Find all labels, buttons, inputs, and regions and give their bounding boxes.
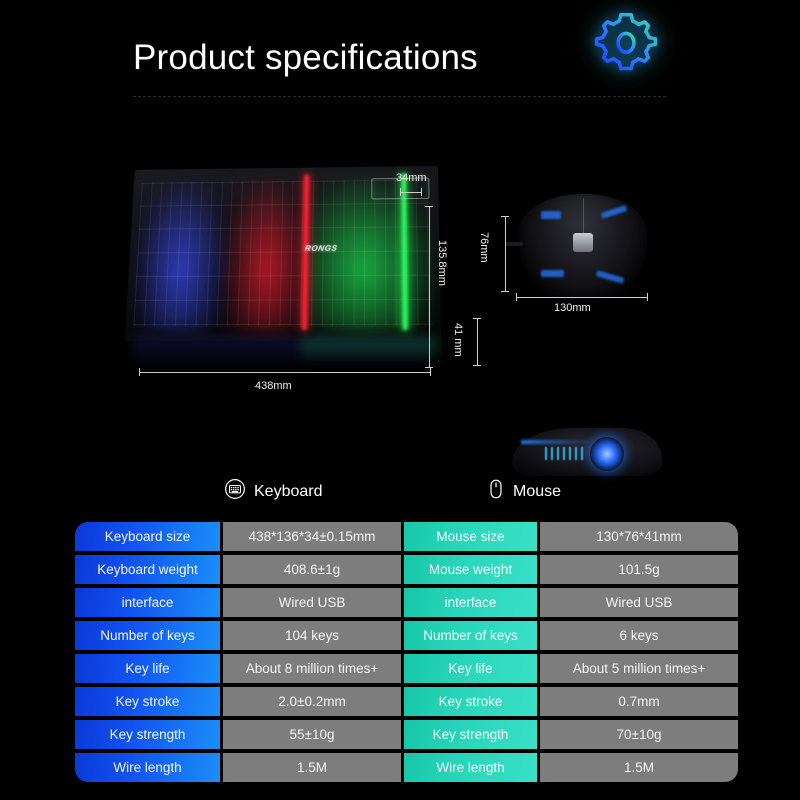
mouse-depth-label: 76mm [478, 232, 490, 263]
spec-value-mouse: 0.7mm [540, 687, 738, 716]
spec-value-keyboard: 55±10g [223, 720, 401, 749]
spec-label-keyboard: Key life [75, 654, 220, 683]
mouse-length-label: 130mm [554, 302, 591, 314]
spec-value-mouse: 6 keys [540, 621, 738, 650]
category-mouse-label: Mouse [513, 483, 561, 501]
category-mouse: Mouse [487, 478, 561, 505]
header-divider [133, 96, 666, 97]
dim-tick [425, 367, 433, 368]
spec-value-mouse: 70±10g [540, 720, 738, 749]
spec-value-mouse: Wired USB [540, 588, 738, 617]
dim-tick [516, 293, 517, 301]
spec-value-keyboard: 408.6±1g [223, 555, 401, 584]
mouse-side-view-image [512, 428, 662, 476]
spec-value-keyboard: About 8 million times+ [223, 654, 401, 683]
mouse-height-line [477, 318, 478, 366]
spec-label-mouse: interface [404, 588, 537, 617]
dim-tick [430, 368, 431, 376]
dim-tick [400, 188, 401, 196]
table-row: Keyboard weight 408.6±1g Mouse weight 10… [75, 555, 738, 584]
keyboard-depth-label: 135.8mm [436, 240, 448, 286]
spec-label-keyboard: Key strength [75, 720, 220, 749]
spec-table: Keyboard size 438*136*34±0.15mm Mouse si… [75, 522, 738, 782]
spec-value-keyboard: 438*136*34±0.15mm [223, 522, 401, 551]
gear-icon [590, 8, 662, 80]
page-header: Product specifications [0, 0, 800, 110]
dim-tick [425, 206, 433, 207]
mouse-length-line [516, 297, 648, 298]
table-row: Key life About 8 million times+ Key life… [75, 654, 738, 683]
spec-value-mouse: 1.5M [540, 753, 738, 782]
mouse-depth-line [505, 216, 506, 292]
spec-value-keyboard: 1.5M [223, 753, 401, 782]
mouse-top-view-image [519, 194, 647, 302]
spec-label-mouse: Wire length [404, 753, 537, 782]
dim-tick [421, 188, 422, 196]
table-row: Key strength 55±10g Key strength 70±10g [75, 720, 738, 749]
keyboard-width-label: 438mm [255, 380, 292, 392]
table-row: Key stroke 2.0±0.2mm Key stroke 0.7mm [75, 687, 738, 716]
table-row: Number of keys 104 keys Number of keys 6… [75, 621, 738, 650]
spec-label-mouse: Key life [404, 654, 537, 683]
keyboard-brand-logo: RONGS [304, 243, 338, 252]
spec-label-mouse: Key strength [404, 720, 537, 749]
category-keyboard: Keyboard [224, 478, 323, 505]
keyboard-icon [224, 478, 246, 505]
mouse-height-label: 41 mm [452, 323, 464, 357]
spec-value-mouse: About 5 million times+ [540, 654, 738, 683]
category-keyboard-label: Keyboard [254, 483, 323, 501]
spec-value-keyboard: 104 keys [223, 621, 401, 650]
page-title: Product specifications [133, 38, 478, 78]
spec-value-keyboard: 2.0±0.2mm [223, 687, 401, 716]
dim-tick [501, 216, 509, 217]
dim-tick [647, 293, 648, 301]
keyboard-reflection-green [300, 338, 440, 370]
spec-label-keyboard: Keyboard weight [75, 555, 220, 584]
product-photo-area: RONGS 34mm 135.8mm 438mm 76mm 130mm [0, 110, 800, 460]
category-header-row: Keyboard Mouse [0, 478, 800, 512]
spec-value-keyboard: Wired USB [223, 588, 401, 617]
spec-label-mouse: Number of keys [404, 621, 537, 650]
keyboard-thickness-label: 34mm [396, 172, 427, 184]
keyboard-product-image: RONGS [128, 165, 438, 340]
keyboard-width-line [139, 372, 431, 373]
spec-label-mouse: Key stroke [404, 687, 537, 716]
spec-label-keyboard: Number of keys [75, 621, 220, 650]
dim-tick [473, 365, 481, 366]
spec-label-keyboard: Wire length [75, 753, 220, 782]
spec-value-mouse: 101.5g [540, 555, 738, 584]
dim-tick [473, 318, 481, 319]
spec-label-mouse: Mouse size [404, 522, 537, 551]
table-row: Wire length 1.5M Wire length 1.5M [75, 753, 738, 782]
spec-label-keyboard: Key stroke [75, 687, 220, 716]
spec-label-keyboard: Keyboard size [75, 522, 220, 551]
mouse-icon [487, 478, 505, 505]
dim-tick [139, 368, 140, 376]
keyboard-depth-line [429, 206, 430, 368]
spec-label-mouse: Mouse weight [404, 555, 537, 584]
dim-tick [501, 291, 509, 292]
keyboard-thickness-line [400, 192, 422, 193]
table-row: Keyboard size 438*136*34±0.15mm Mouse si… [75, 522, 738, 551]
spec-value-mouse: 130*76*41mm [540, 522, 738, 551]
table-row: interface Wired USB interface Wired USB [75, 588, 738, 617]
spec-label-keyboard: interface [75, 588, 220, 617]
